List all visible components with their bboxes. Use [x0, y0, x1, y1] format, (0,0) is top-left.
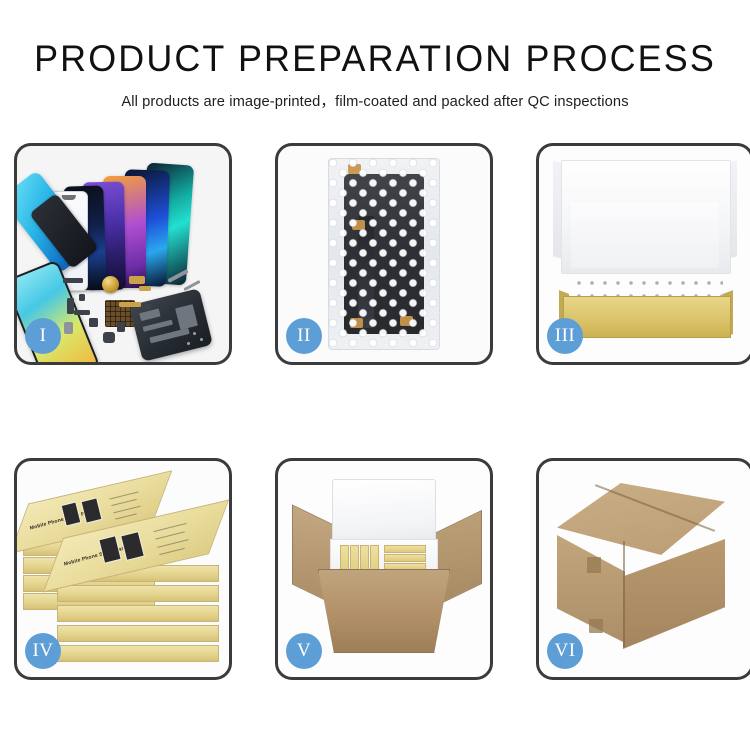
foam-box-lid: [332, 479, 436, 545]
process-step-5: V: [275, 458, 493, 680]
box-stack-layer: [57, 605, 219, 622]
phone-chassis-open: [129, 288, 213, 362]
header: PRODUCT PREPARATION PROCESS All products…: [0, 0, 750, 111]
notch-shape: [62, 195, 76, 200]
process-step-2: II: [275, 143, 493, 365]
carton-top-face: [557, 483, 725, 555]
screw-part: [187, 342, 190, 345]
carton-edge: [623, 541, 625, 647]
step-badge-4: IV: [25, 633, 61, 669]
product-preparation-infographic: PRODUCT PREPARATION PROCESS All products…: [0, 0, 750, 750]
button-part: [89, 318, 98, 327]
box-stack-layer: [57, 585, 219, 602]
screw-part: [193, 332, 196, 335]
foam-sheet: [571, 202, 719, 268]
page-subtitle: All products are image-printed，film-coat…: [8, 90, 743, 111]
process-step-grid: I II: [14, 143, 737, 680]
carton-tape-patch: [589, 619, 603, 633]
gold-flex-part: [129, 276, 145, 284]
connector-part-2: [141, 304, 151, 310]
carton-right-face: [623, 539, 725, 649]
step-badge-3: III: [547, 318, 583, 354]
ribbon-part: [74, 310, 90, 315]
kraft-tray-front: [563, 296, 731, 338]
sim-tray-part: [64, 322, 73, 334]
gold-contact-part: [139, 286, 151, 291]
speaker-part: [103, 332, 115, 343]
step-badge-5: V: [286, 633, 322, 669]
small-ic-part: [79, 294, 85, 301]
process-step-4: Mobile Phone Spare Parts Mobile Phone Sp…: [14, 458, 232, 680]
yellow-box-item: [384, 545, 426, 553]
box-stack-layer: [57, 645, 219, 662]
bubble-wrap-bag: [328, 158, 440, 350]
screw-part: [200, 338, 203, 341]
flex-cable-part: [67, 298, 74, 314]
bubble-padding-layer: [569, 273, 723, 297]
vibration-motor-icon: [102, 276, 119, 293]
carton-tape-patch: [587, 557, 601, 573]
process-step-6: VI: [536, 458, 750, 680]
step-badge-1: I: [25, 318, 61, 354]
process-step-1: I: [14, 143, 232, 365]
page-title: PRODUCT PREPARATION PROCESS: [11, 40, 739, 77]
yellow-box-item: [384, 554, 426, 562]
connector-part: [63, 278, 83, 283]
step-badge-6: VI: [547, 633, 583, 669]
gold-ribbon-part: [119, 302, 141, 307]
step-badge-2: II: [286, 318, 322, 354]
process-step-3: III: [536, 143, 750, 365]
camera-module-part: [117, 322, 125, 332]
carton-body: [318, 569, 450, 653]
bubble-texture: [328, 158, 440, 350]
box-stack-layer: [57, 625, 219, 642]
